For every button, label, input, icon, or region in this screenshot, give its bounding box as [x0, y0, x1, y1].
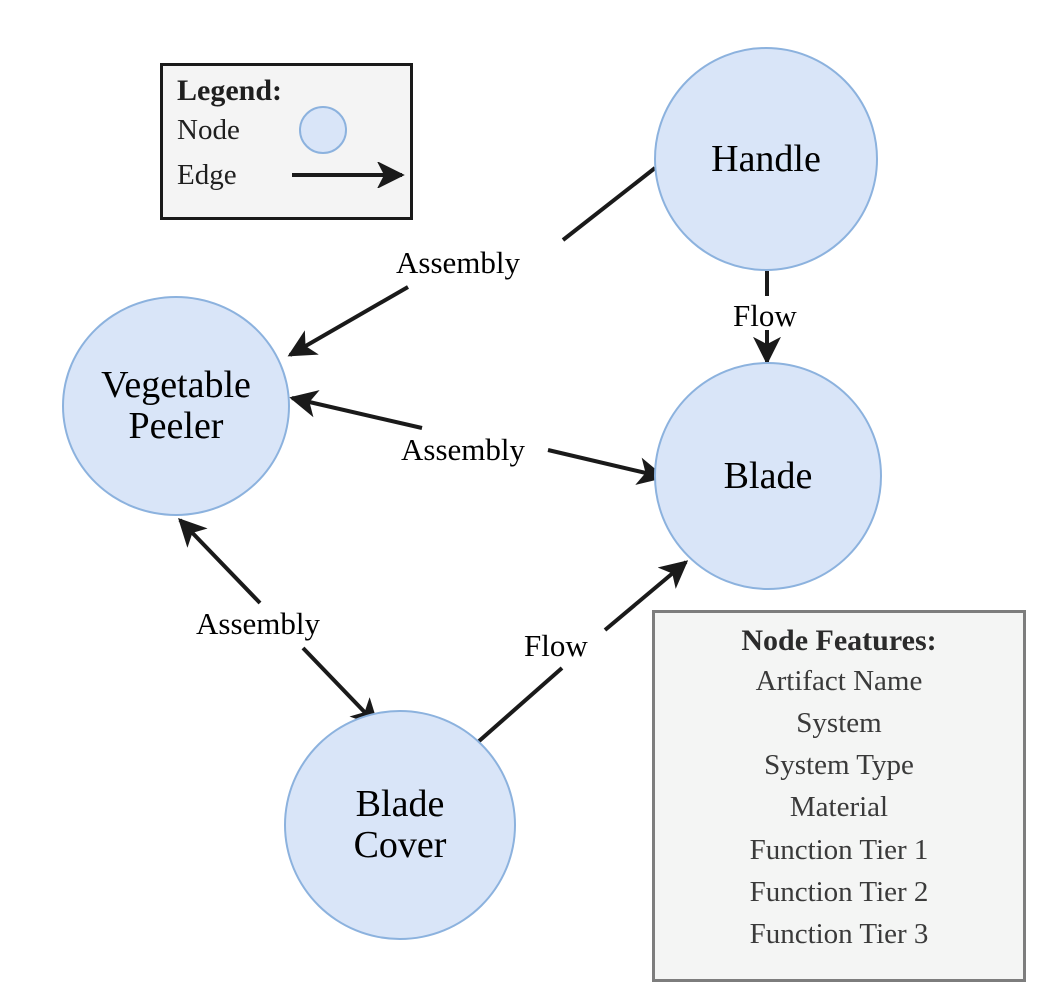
node-feature-item: Function Tier 3 — [655, 913, 1023, 955]
node-feature-item: System — [655, 702, 1023, 744]
node-blade-cover[interactable]: Blade Cover — [284, 710, 516, 940]
legend-node-label: Node — [177, 114, 289, 147]
node-feature-item: Function Tier 1 — [655, 829, 1023, 871]
node-blade[interactable]: Blade — [654, 362, 882, 590]
legend-arrow-icon — [290, 162, 410, 188]
edge-peeler-to-cover — [303, 648, 377, 725]
node-vegetable-peeler-label: Vegetable Peeler — [95, 365, 257, 446]
node-feature-item: Material — [655, 786, 1023, 828]
edge-blade-to-peeler — [292, 398, 422, 428]
node-blade-cover-label: Blade Cover — [348, 784, 453, 865]
legend-row-edge: Edge — [177, 153, 410, 198]
edge-label-handle-to-blade: Flow — [733, 298, 797, 334]
edge-label-peeler-blade: Assembly — [401, 432, 525, 468]
legend-panel: Legend: Node Edge — [160, 63, 413, 220]
node-vegetable-peeler[interactable]: Vegetable Peeler — [62, 296, 290, 516]
legend-node-circle-icon — [299, 106, 347, 154]
edge-peeler-to-blade — [548, 450, 663, 477]
node-feature-item: Function Tier 2 — [655, 871, 1023, 913]
edge-label-cover-peeler: Assembly — [196, 606, 320, 642]
node-feature-item: Artifact Name — [655, 660, 1023, 702]
node-features-panel: Node Features: Artifact Name System Syst… — [652, 610, 1026, 982]
legend-title: Legend: — [177, 74, 410, 108]
diagram-canvas: Assembly Flow Assembly Assembly Flow Han… — [0, 0, 1055, 1008]
legend-row-node: Node — [177, 108, 410, 153]
legend-edge-label: Edge — [177, 159, 284, 192]
node-blade-label: Blade — [718, 456, 819, 497]
node-feature-item: System Type — [655, 744, 1023, 786]
node-handle-label: Handle — [705, 139, 827, 180]
node-handle[interactable]: Handle — [654, 47, 878, 271]
node-features-title: Node Features: — [655, 622, 1023, 660]
edge-cover-to-peeler — [180, 520, 260, 603]
edge-label-handle-to-peeler: Assembly — [396, 245, 520, 281]
edge-label-cover-to-blade: Flow — [524, 628, 588, 664]
